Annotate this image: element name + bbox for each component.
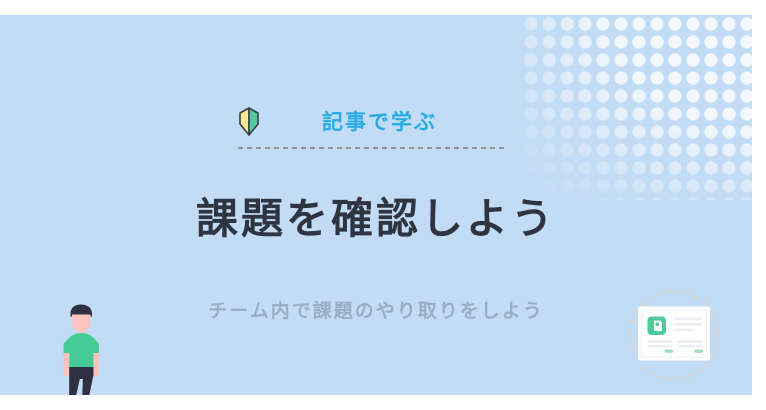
document-card-illustration: [616, 287, 732, 383]
wakaba-mark-icon: [238, 106, 260, 136]
eyebrow-row: 記事で学ぶ: [238, 103, 508, 139]
eyebrow-label: 記事で学ぶ: [322, 106, 437, 136]
page-title: 課題を確認しよう: [0, 185, 752, 246]
dashed-divider: [238, 147, 506, 149]
slide-background-panel: 記事で学ぶ 課題を確認しよう チーム内で課題のやり取りをしよう: [0, 15, 752, 395]
slide-canvas: 記事で学ぶ 課題を確認しよう チーム内で課題のやり取りをしよう: [0, 0, 766, 410]
standing-person-illustration: [52, 303, 112, 395]
halftone-dot-pattern: [522, 15, 752, 200]
